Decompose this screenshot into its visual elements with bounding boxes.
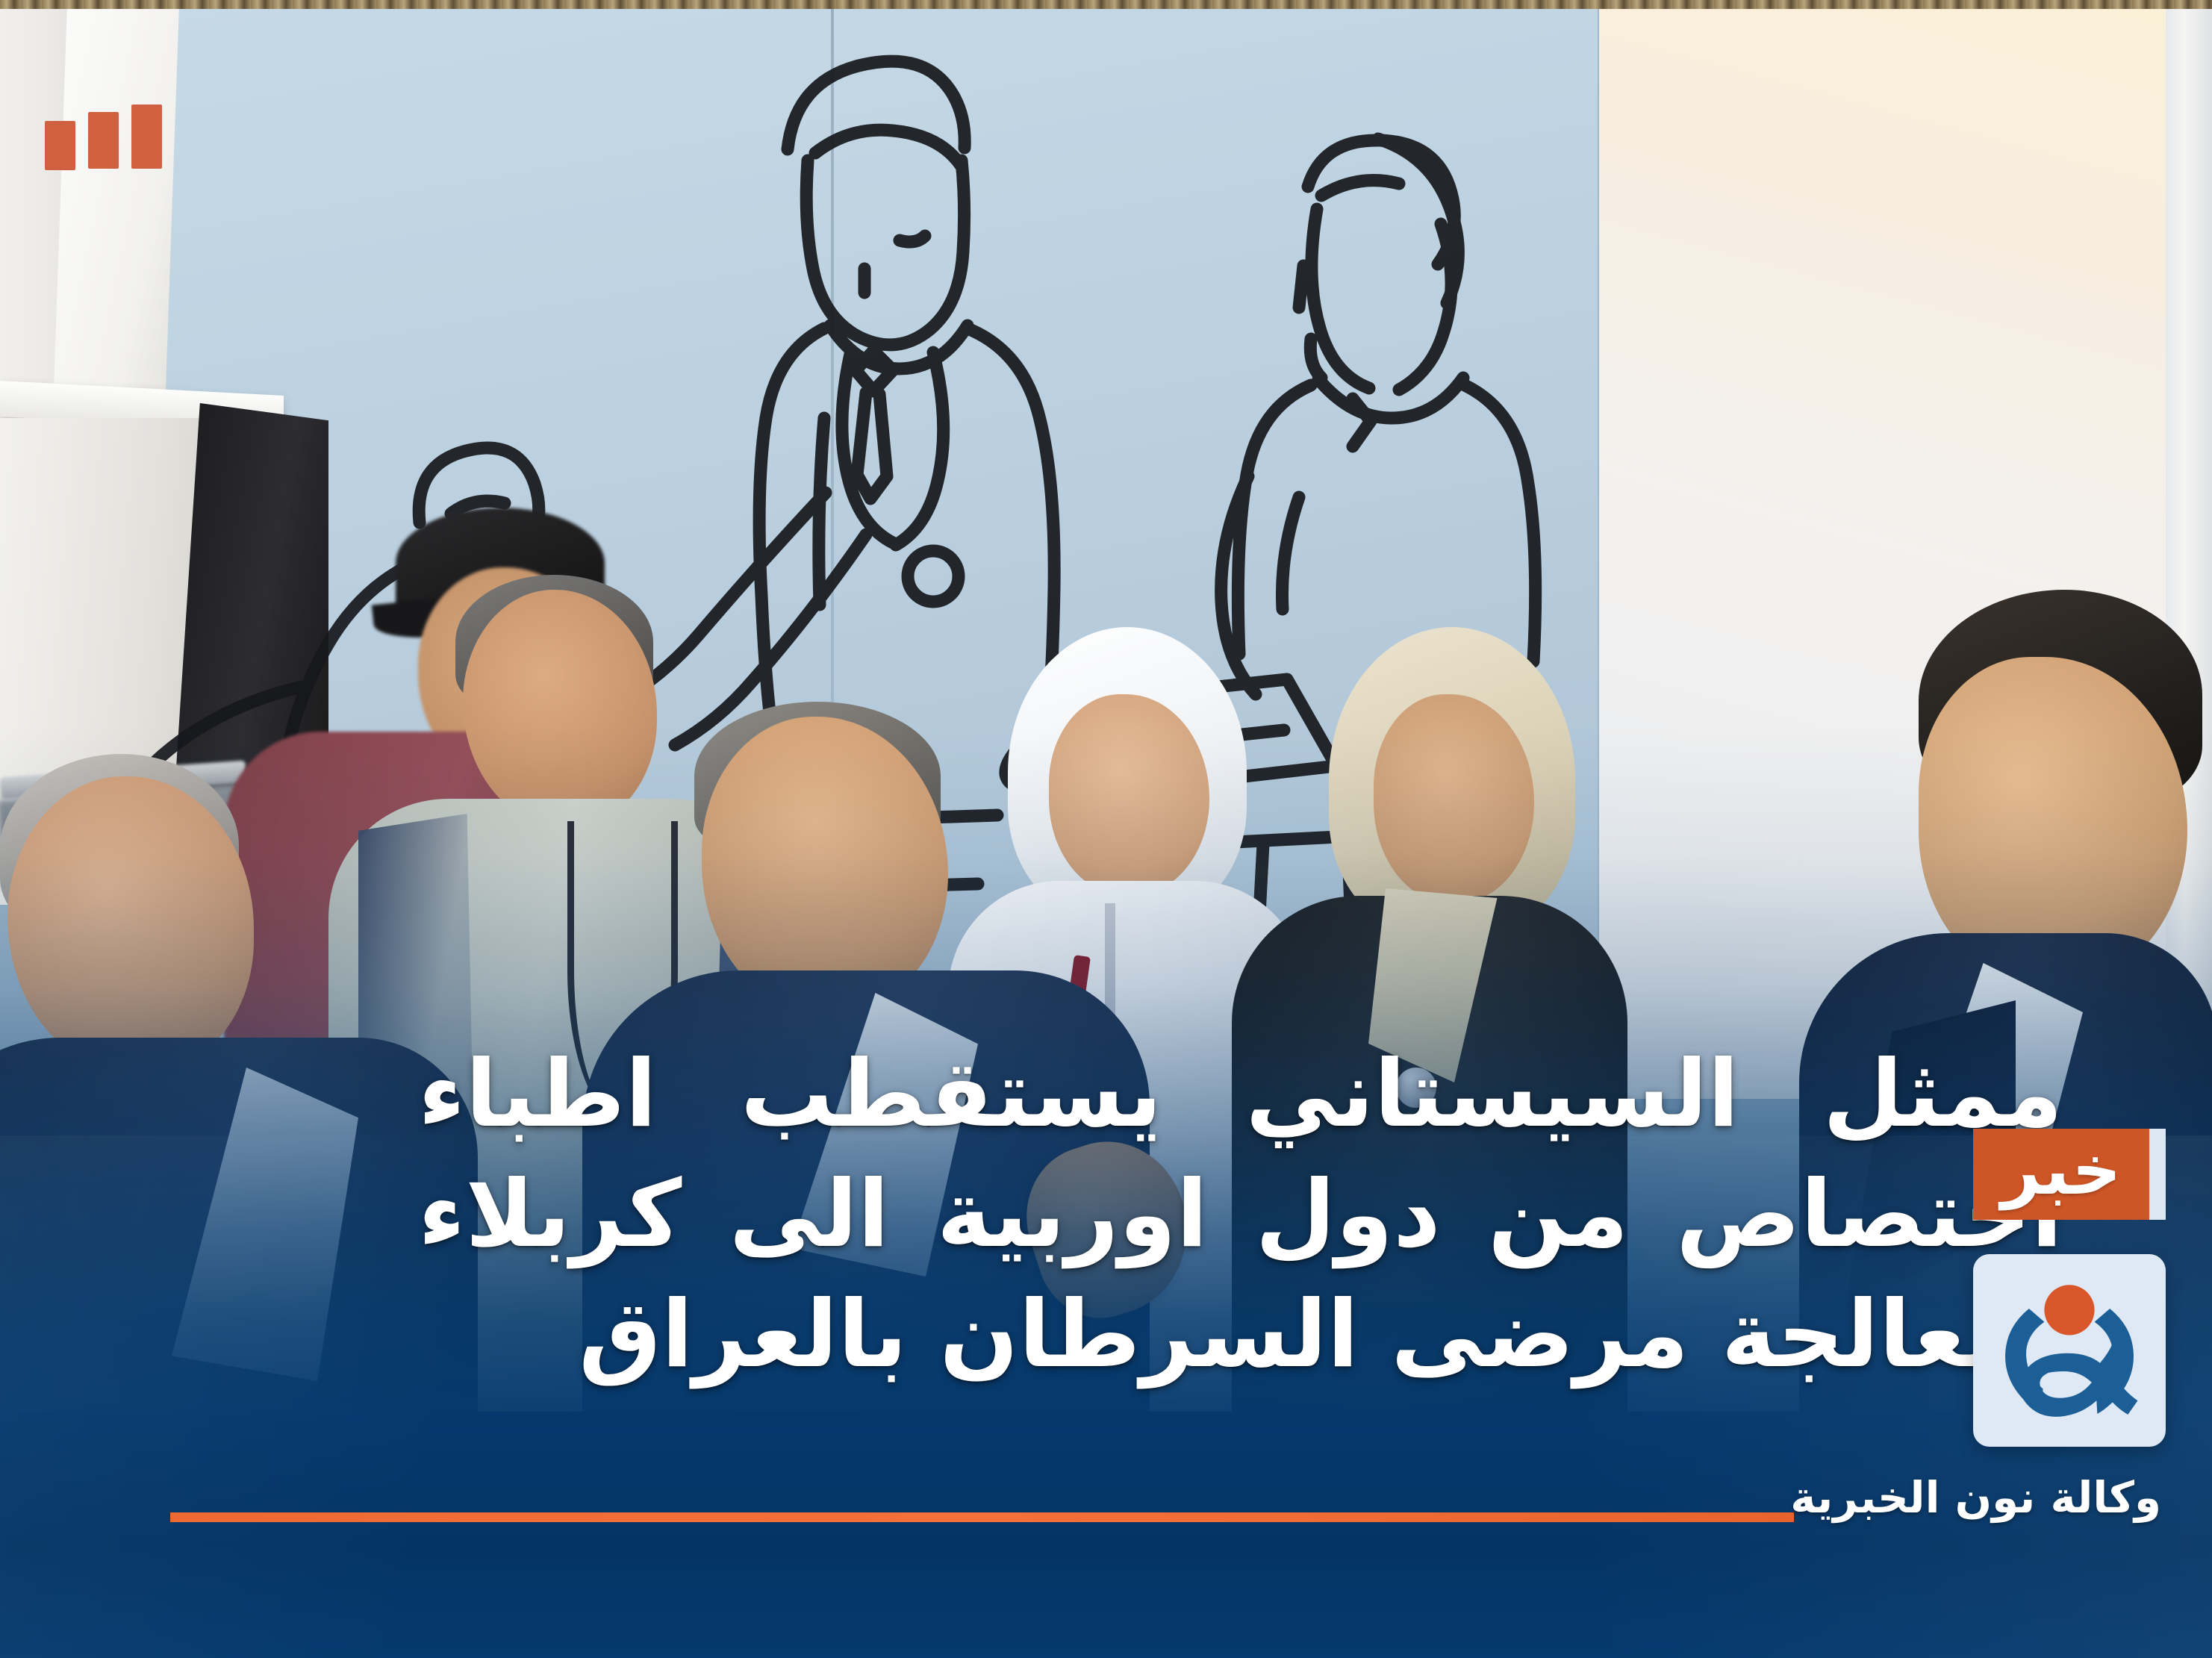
news-card: ممثل السيستاني يستقطب اطباء اختصاص من دو… — [0, 0, 2212, 1658]
headline-line-2: اختصاص من دول اوربية الى كربلاء — [418, 1155, 2063, 1275]
badge-label: خبر — [2001, 1136, 2121, 1212]
bar-1 — [131, 105, 162, 169]
headline-line-3: لمعالجة مرضى السرطان بالعراق — [418, 1275, 2063, 1395]
headline-line-1: ممثل السيستاني يستقطب اطباء — [418, 1035, 2063, 1155]
logo-orange-dot — [2044, 1285, 2094, 1335]
noon-agency-logo — [1973, 1254, 2166, 1447]
badge-fill: خبر — [1973, 1129, 2149, 1220]
three-bars-mark — [45, 105, 162, 170]
agency-name: وكالة نون الخبرية — [1942, 1472, 2161, 1523]
blue-solid-footer — [0, 1412, 2212, 1658]
brand-block: خبر وكالة نون الخبرية — [1942, 1129, 2166, 1523]
orange-rule — [170, 1512, 1794, 1522]
bar-3 — [45, 121, 75, 170]
news-badge: خبر — [1973, 1129, 2166, 1220]
bar-2 — [88, 112, 119, 169]
headline: ممثل السيستاني يستقطب اطباء اختصاص من دو… — [418, 1035, 2063, 1396]
